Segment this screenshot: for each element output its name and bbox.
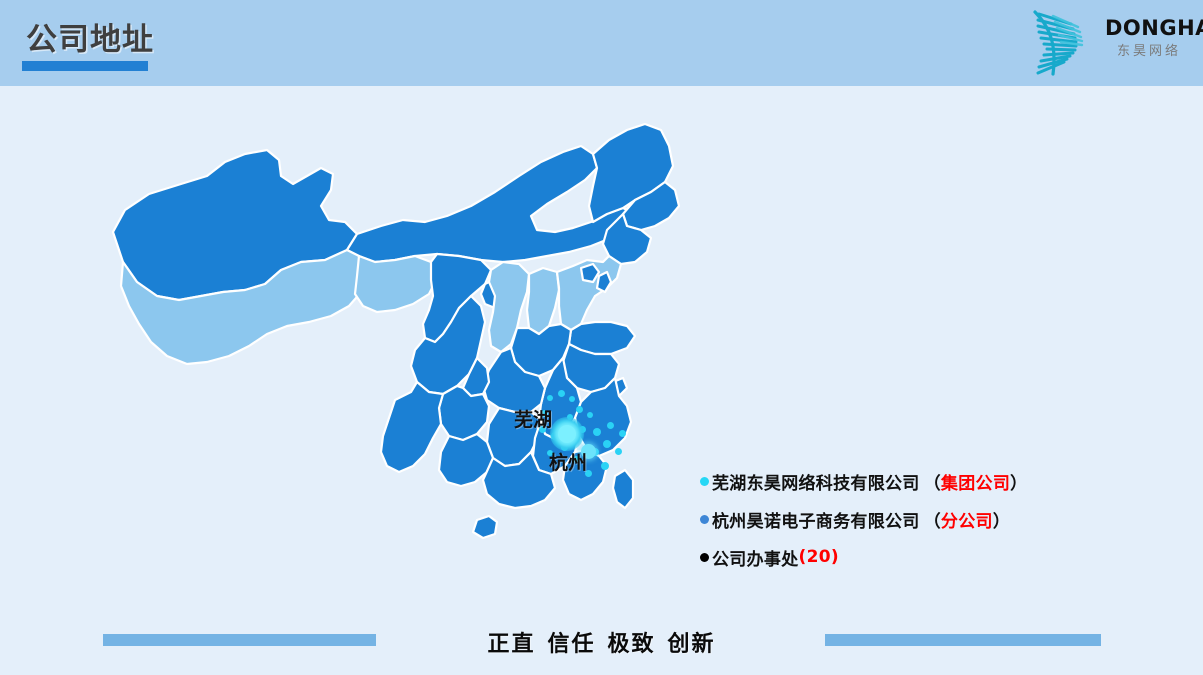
legend-item-tag: （分公司） (924, 507, 1011, 532)
footer-slogan: 正直信任极致创新 (0, 626, 1203, 658)
legend-bullet-icon (700, 477, 709, 486)
headquarters-marker-core (558, 425, 576, 443)
legend-item-group-company: 芜湖东昊网络科技有限公司 （集团公司） (700, 462, 1120, 500)
office-dot (619, 430, 626, 437)
header-band (0, 0, 1203, 86)
china-map-svg (95, 110, 715, 610)
office-dot (587, 412, 593, 418)
legend-item-label: 芜湖东昊网络科技有限公司 (712, 469, 920, 494)
legend-list: 芜湖东昊网络科技有限公司 （集团公司） 杭州昊诺电子商务有限公司 （分公司） 公… (700, 462, 1120, 576)
legend-item-offices: 公司办事处(20) (700, 538, 1120, 576)
legend-item-tag: （集团公司） (924, 469, 1028, 494)
legend-item-count: (20) (799, 547, 839, 567)
legend-item-branch-company: 杭州昊诺电子商务有限公司 （分公司） (700, 500, 1120, 538)
legend-bullet-icon (700, 515, 709, 524)
slide-canvas: 公司地址 (0, 0, 1203, 675)
slogan-word-3: 极致 (608, 632, 656, 657)
logo-name: DONGHAO (1105, 18, 1193, 39)
donghao-feather-logo-icon (1031, 8, 1105, 78)
legend-item-label: 公司办事处 (712, 545, 799, 570)
office-dot (558, 390, 565, 397)
legend-tag-open: （ (924, 474, 941, 494)
slogan-word-1: 正直 (487, 632, 535, 657)
legend-tag-close: ） (1010, 474, 1027, 494)
office-dot (607, 422, 614, 429)
title-underline-bar (22, 61, 148, 71)
office-dot (569, 396, 575, 402)
logo-wordmark: DONGHAO 东昊网络 (1105, 18, 1193, 58)
office-dot (547, 395, 553, 401)
office-dot (603, 440, 611, 448)
page-title: 公司地址 (26, 14, 154, 59)
map-label-wuhu: 芜湖 (514, 405, 552, 432)
company-logo: DONGHAO 东昊网络 (1027, 6, 1195, 80)
map-label-hangzhou: 杭州 (549, 448, 587, 475)
legend-tag-highlight: 分公司 (941, 512, 993, 532)
slogan-word-4: 创新 (668, 632, 716, 657)
legend-tag-close: ） (993, 512, 1010, 532)
headquarters-marker[interactable] (550, 417, 584, 451)
legend-item-label: 杭州昊诺电子商务有限公司 (712, 507, 920, 532)
office-dot (601, 462, 609, 470)
slogan-word-2: 信任 (547, 632, 595, 657)
china-map-container: 芜湖 杭州 (95, 110, 715, 610)
office-dot (593, 428, 601, 436)
legend-bullet-icon (700, 553, 709, 562)
legend-tag-open: （ (924, 512, 941, 532)
logo-sub-name: 东昊网络 (1105, 45, 1193, 58)
legend-tag-highlight: 集团公司 (941, 474, 1010, 494)
office-dot (615, 448, 622, 455)
office-dot (576, 406, 583, 413)
